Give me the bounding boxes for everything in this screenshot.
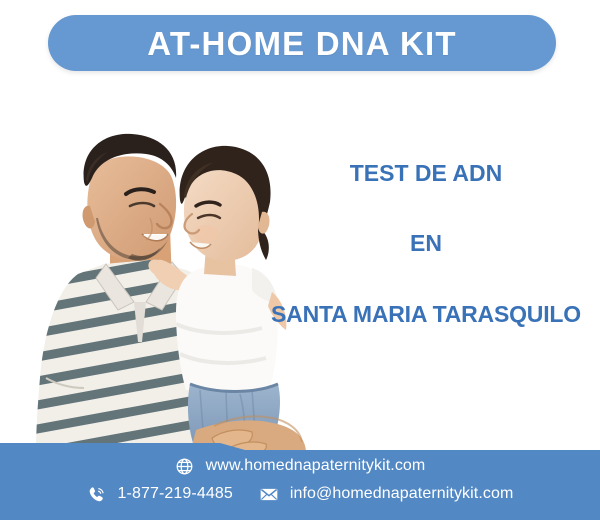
header-banner: AT-HOME DNA KIT bbox=[48, 15, 556, 71]
email-label: info@homednapaternitykit.com bbox=[290, 485, 514, 503]
headline-block: TEST DE ADN EN SANTA MARIA TARASQUILO bbox=[252, 160, 600, 327]
footer-contacts: www.homednapaternitykit.com 1-877-219-44… bbox=[0, 440, 600, 520]
globe-icon bbox=[175, 456, 195, 476]
headline-line-2: EN bbox=[252, 230, 600, 256]
footer-row-website: www.homednapaternitykit.com bbox=[175, 456, 426, 476]
headline-line-1: TEST DE ADN bbox=[252, 160, 600, 186]
page-title: AT-HOME DNA KIT bbox=[147, 27, 456, 60]
envelope-icon bbox=[259, 484, 279, 504]
email-item[interactable]: info@homednapaternitykit.com bbox=[259, 484, 514, 504]
footer-row-phone-email: 1-877-219-4485 info@homednapaternitykit.… bbox=[87, 484, 514, 504]
website-item[interactable]: www.homednapaternitykit.com bbox=[175, 456, 426, 476]
phone-label: 1-877-219-4485 bbox=[118, 485, 233, 503]
website-label: www.homednapaternitykit.com bbox=[206, 457, 426, 475]
phone-icon bbox=[87, 484, 107, 504]
phone-item[interactable]: 1-877-219-4485 bbox=[87, 484, 233, 504]
promo-banner: AT-HOME DNA KIT bbox=[0, 0, 600, 520]
headline-line-3: SANTA MARIA TARASQUILO bbox=[252, 301, 600, 327]
